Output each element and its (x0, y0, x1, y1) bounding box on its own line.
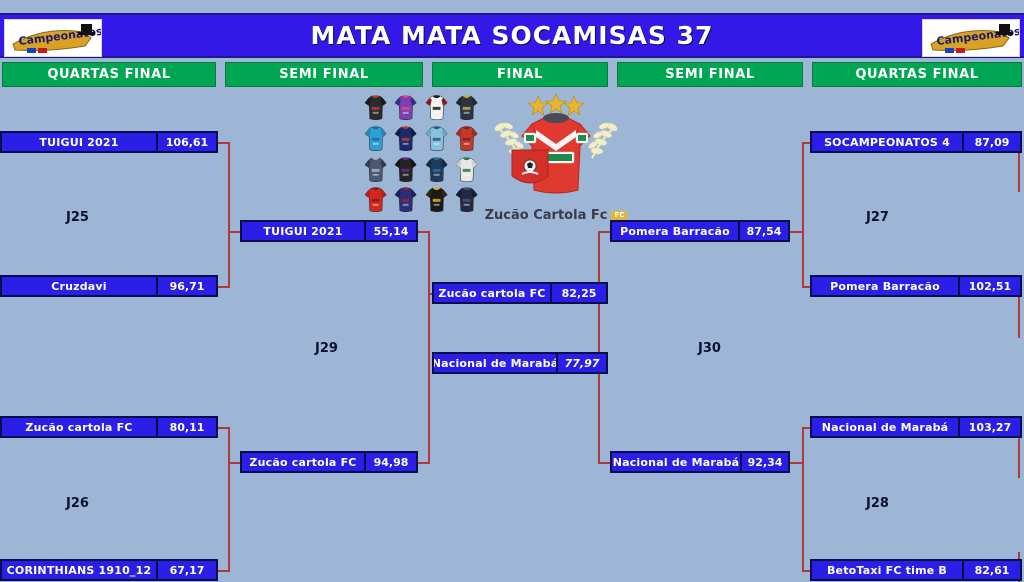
team-name-cell: SOCAMPEONATOS 4 (812, 133, 964, 151)
match-slot-j29-bottom[interactable]: Zucão cartola FC 94,98 (240, 451, 418, 473)
champion-stars-icon (528, 94, 584, 115)
team-score: 92,34 (748, 456, 783, 469)
team-name: Pomera Barracão (830, 280, 940, 293)
round-header-quartas-final-left: QUARTAS FINAL (2, 62, 216, 87)
team-name: Cruzdavi (51, 280, 107, 293)
team-name-cell: Pomera Barracão (612, 222, 740, 240)
team-name-cell: Nacional de Marabá (812, 418, 960, 436)
team-name: TUIGUI 2021 (263, 225, 342, 238)
champion-block: Zucão Cartola Fc FC (486, 90, 626, 235)
team-score-cell: 55,14 (366, 222, 416, 240)
team-name-cell: Zucão cartola FC (2, 418, 158, 436)
match-slot-j30-top[interactable]: Pomera Barracão 87,54 (610, 220, 790, 242)
jersey-thumbnail-3 (422, 92, 451, 122)
match-slot-j27-bottom[interactable]: Pomera Barracão 102,51 (810, 275, 1022, 297)
match-slot-final-bottom[interactable]: Nacional de Marabá 77,97 (432, 352, 608, 374)
connector-j29-vertical (428, 231, 430, 462)
team-score: 96,71 (170, 280, 205, 293)
match-slot-j26-top[interactable]: Zucão cartola FC 80,11 (0, 416, 218, 438)
round-label: SEMI FINAL (665, 67, 754, 82)
match-slot-j26-bottom[interactable]: CORINTHIANS 1910_12 67,17 (0, 559, 218, 581)
match-slot-j29-top[interactable]: TUIGUI 2021 55,14 (240, 220, 418, 242)
team-score-cell: 67,17 (158, 561, 216, 579)
team-name-cell: CORINTHIANS 1910_12 (2, 561, 158, 579)
connector-j25-out (228, 231, 240, 233)
round-label: QUARTAS FINAL (47, 67, 170, 82)
connector-j30-vertical (598, 231, 600, 462)
jersey-thumbnail-15 (422, 184, 451, 214)
connector-j26-bottom (218, 570, 230, 572)
team-score-cell: 82,25 (552, 284, 606, 302)
jersey-thumbnail-8 (452, 123, 481, 153)
jersey-thumbnail-10 (391, 154, 420, 184)
team-name-cell: Cruzdavi (2, 277, 158, 295)
team-name: Pomera Barracão (620, 225, 730, 238)
team-score: 82,25 (562, 287, 597, 300)
page-title: MATA MATA SOCAMISAS 37 (311, 21, 714, 50)
team-score-cell: 96,71 (158, 277, 216, 295)
jersey-thumbnail-6 (391, 123, 420, 153)
so-campeonatos-logo-icon: Campeonatos (5, 20, 102, 57)
match-id-j27: J27 (866, 210, 889, 225)
team-name-cell: Zucão cartola FC (434, 284, 552, 302)
logo-left: Campeonatos (4, 19, 102, 57)
match-slot-j28-top[interactable]: Nacional de Marabá 103,27 (810, 416, 1022, 438)
match-slot-j25-bottom[interactable]: Cruzdavi 96,71 (0, 275, 218, 297)
jersey-thumbnail-12 (452, 154, 481, 184)
team-score-cell: 106,61 (158, 133, 216, 151)
round-header-final: FINAL (432, 62, 608, 87)
champion-jersey-icon (486, 90, 626, 208)
jersey-thumbnail-4 (452, 92, 481, 122)
connector-j25-vertical (228, 142, 230, 288)
champion-badge: FC (611, 211, 627, 220)
team-name: Zucão cartola FC (249, 456, 356, 469)
team-score: 77,97 (565, 357, 600, 370)
team-score-cell: 80,11 (158, 418, 216, 436)
match-slot-final-top[interactable]: Zucão cartola FC 82,25 (432, 282, 608, 304)
team-name: Nacional de Marabá (434, 357, 558, 370)
connector-j29-bottom (418, 462, 430, 464)
team-name-cell: BetoTaxi FC time B (812, 561, 964, 579)
team-score: 102,51 (969, 280, 1011, 293)
connector-j25-bottom (218, 286, 230, 288)
round-label: SEMI FINAL (279, 67, 368, 82)
jersey-thumbnail-2 (391, 92, 420, 122)
jersey-thumbnail-14 (391, 184, 420, 214)
bracket-page: MATA MATA SOCAMISAS 37 Campeonatos Campe… (0, 0, 1024, 582)
champion-name-row: Zucão Cartola Fc FC (486, 208, 626, 223)
match-id-j28: J28 (866, 496, 889, 511)
team-name: CORINTHIANS 1910_12 (7, 564, 152, 577)
logo-right: Campeonatos (922, 19, 1020, 57)
match-id-j26: J26 (66, 496, 89, 511)
team-name-cell: Zucão cartola FC (242, 453, 366, 471)
team-score-cell: 82,61 (964, 561, 1020, 579)
team-name-cell: TUIGUI 2021 (242, 222, 366, 240)
match-id-j25: J25 (66, 210, 89, 225)
team-score: 67,17 (170, 564, 205, 577)
round-header-quartas-final-right: QUARTAS FINAL (812, 62, 1022, 87)
team-name: Zucão cartola FC (438, 287, 545, 300)
team-name-cell: Pomera Barracão (812, 277, 960, 295)
team-name: TUIGUI 2021 (39, 136, 118, 149)
connector-j26-vertical (228, 427, 230, 572)
title-bar: MATA MATA SOCAMISAS 37 Campeonatos Campe… (0, 13, 1024, 58)
round-label: FINAL (497, 67, 543, 82)
team-score-cell: 92,34 (742, 453, 788, 471)
round-label: QUARTAS FINAL (855, 67, 978, 82)
jersey-thumbnail-7 (422, 123, 451, 153)
match-slot-j28-bottom[interactable]: BetoTaxi FC time B 82,61 (810, 559, 1022, 581)
team-name: SOCAMPEONATOS 4 (824, 136, 950, 149)
team-score: 94,98 (374, 456, 409, 469)
round-header-semi-final-left: SEMI FINAL (225, 62, 423, 87)
team-name: Nacional de Marabá (613, 456, 740, 469)
jersey-thumbnail-11 (422, 154, 451, 184)
team-score: 106,61 (166, 136, 208, 149)
connector-j27-vertical (802, 142, 804, 288)
team-score: 103,27 (969, 421, 1011, 434)
team-score: 87,09 (975, 136, 1010, 149)
match-slot-j25-top[interactable]: TUIGUI 2021 106,61 (0, 131, 218, 153)
connector-j28-out (790, 462, 804, 464)
team-score: 55,14 (374, 225, 409, 238)
match-slot-j27-top[interactable]: SOCAMPEONATOS 4 87,09 (810, 131, 1022, 153)
match-slot-j30-bottom[interactable]: Nacional de Marabá 92,34 (610, 451, 790, 473)
team-score-cell: 77,97 (558, 354, 606, 372)
team-name-cell: TUIGUI 2021 (2, 133, 158, 151)
round-header-semi-final-right: SEMI FINAL (617, 62, 803, 87)
team-name: Zucão cartola FC (25, 421, 132, 434)
match-id-j29: J29 (315, 341, 338, 356)
team-score: 82,61 (975, 564, 1010, 577)
connector-j27-out (790, 231, 804, 233)
match-id-j30: J30 (698, 341, 721, 356)
team-score: 80,11 (170, 421, 205, 434)
jersey-thumbnail-grid (361, 92, 481, 214)
team-score-cell: 87,09 (964, 133, 1020, 151)
connector-j28-vertical (802, 427, 804, 572)
team-name-cell: Nacional de Marabá (612, 453, 742, 471)
jersey-thumbnail-5 (361, 123, 390, 153)
team-score-cell: 102,51 (960, 277, 1020, 295)
team-score: 87,54 (747, 225, 782, 238)
team-name-cell: Nacional de Marabá (434, 354, 558, 372)
team-score-cell: 94,98 (366, 453, 416, 471)
jersey-thumbnail-13 (361, 184, 390, 214)
team-score-cell: 103,27 (960, 418, 1020, 436)
team-score-cell: 87,54 (740, 222, 788, 240)
connector-j30-bottom (598, 462, 610, 464)
team-name: Nacional de Marabá (822, 421, 949, 434)
champion-name: Zucão Cartola Fc (485, 208, 608, 223)
so-campeonatos-logo-icon: Campeonatos (923, 20, 1020, 57)
jersey-thumbnail-1 (361, 92, 390, 122)
jersey-thumbnail-9 (361, 154, 390, 184)
team-name: BetoTaxi FC time B (827, 564, 947, 577)
jersey-thumbnail-16 (452, 184, 481, 214)
